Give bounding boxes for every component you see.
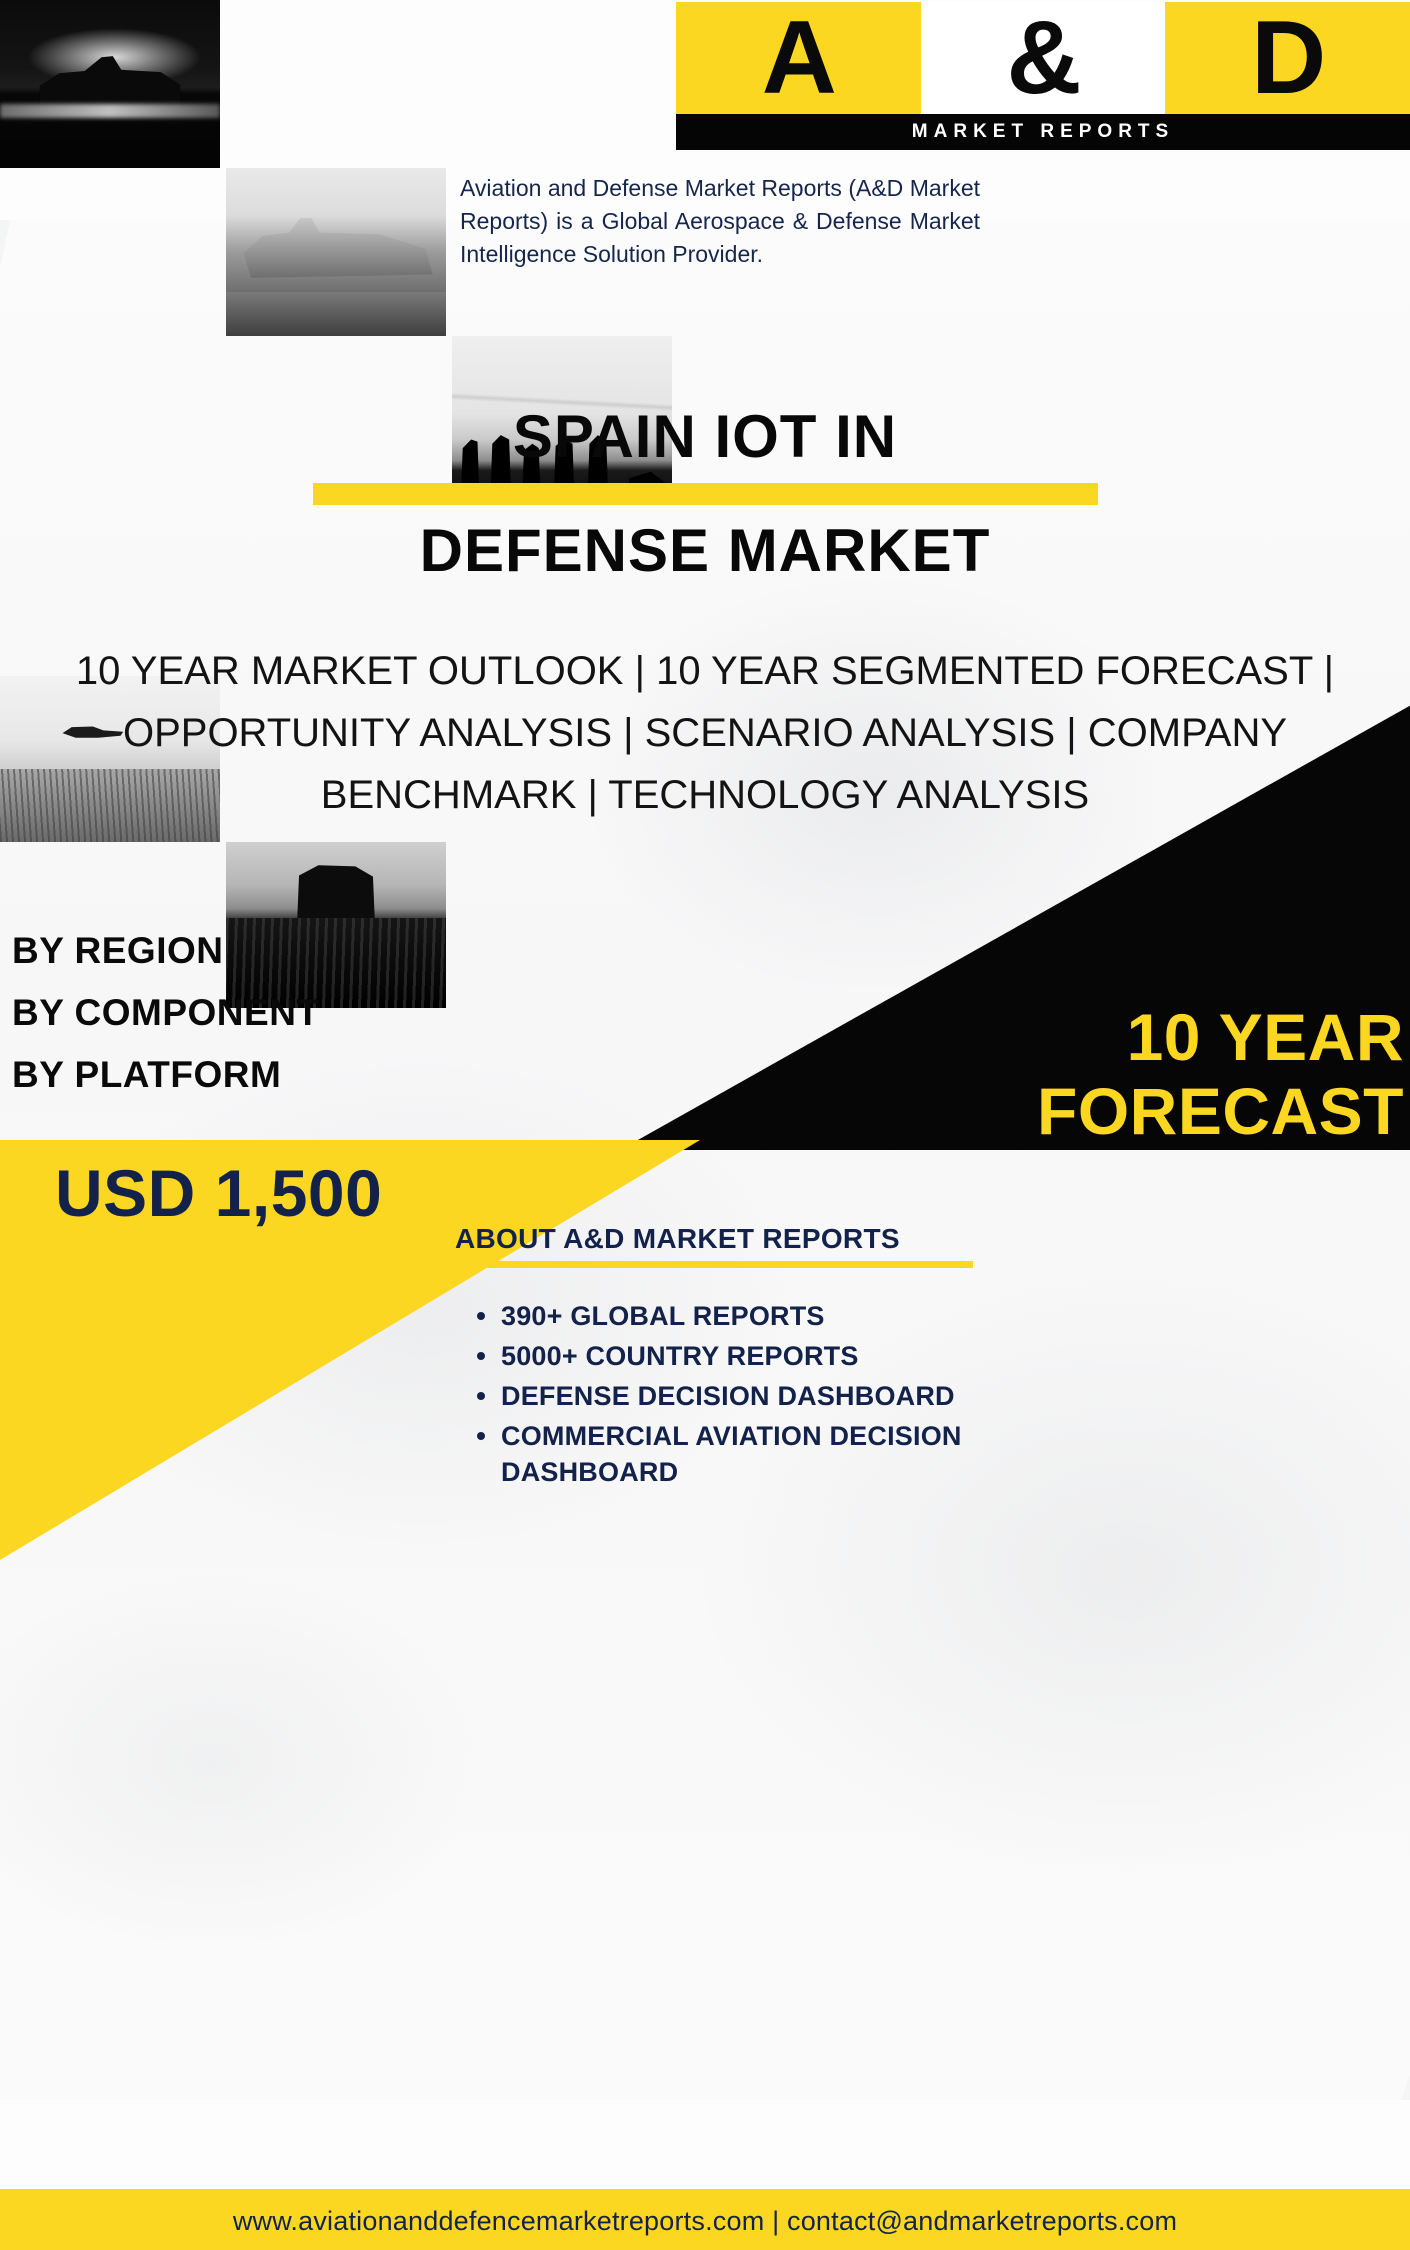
footer-contact-text[interactable]: www.aviationanddefencemarketreports.com … xyxy=(233,2206,1177,2237)
segmentation-list: BY REGION BY COMPONENT BY PLATFORM xyxy=(12,920,320,1106)
photo-strip xyxy=(0,0,676,338)
brand-logo: A & D MARKET REPORTS xyxy=(676,2,1410,150)
report-title-line-1: SPAIN IOT IN xyxy=(0,405,1410,469)
about-list-item: 5000+ COUNTRY REPORTS xyxy=(501,1338,985,1374)
forecast-badge-line-2: FORECAST xyxy=(784,1074,1404,1148)
about-list-item: COMMERCIAL AVIATION DECISION DASHBOARD xyxy=(501,1418,985,1490)
title-yellow-rule xyxy=(313,483,1098,505)
company-intro-paragraph: Aviation and Defense Market Reports (A&D… xyxy=(460,172,980,271)
logo-subtitle-bar: MARKET REPORTS xyxy=(676,114,1410,150)
about-yellow-rule xyxy=(461,1261,973,1268)
segmentation-item-component: BY COMPONENT xyxy=(12,982,320,1044)
logo-cell-a: A xyxy=(676,2,921,114)
logo-letter-d: D xyxy=(1251,6,1324,110)
segmentation-item-region: BY REGION xyxy=(12,920,320,982)
report-title-block: SPAIN IOT IN DEFENSE MARKET xyxy=(0,405,1410,582)
report-title-line-2: DEFENSE MARKET xyxy=(0,519,1410,583)
logo-cell-ampersand: & xyxy=(921,2,1166,114)
logo-letter-row: A & D xyxy=(676,2,1410,114)
logo-letter-ampersand: & xyxy=(1006,6,1079,110)
about-heading: ABOUT A&D MARKET REPORTS xyxy=(455,1222,985,1256)
photo-aircraft-carrier xyxy=(226,168,446,336)
logo-subtitle-text: MARKET REPORTS xyxy=(912,121,1174,143)
about-list-item: DEFENSE DECISION DASHBOARD xyxy=(501,1378,985,1414)
photo-fighter-jet-on-runway xyxy=(0,0,220,168)
about-bullet-list: 390+ GLOBAL REPORTS 5000+ COUNTRY REPORT… xyxy=(455,1298,985,1490)
segmentation-item-platform: BY PLATFORM xyxy=(12,1044,320,1106)
poster-root: A & D MARKET REPORTS Aviation and Defens… xyxy=(0,0,1410,2250)
logo-letter-a: A xyxy=(762,6,835,110)
about-section: ABOUT A&D MARKET REPORTS 390+ GLOBAL REP… xyxy=(455,1222,985,1494)
price-label: USD 1,500 xyxy=(55,1160,382,1226)
logo-cell-d: D xyxy=(1165,2,1410,114)
footer-bar: www.aviationanddefencemarketreports.com … xyxy=(0,2192,1410,2250)
report-scope-subtitle: 10 YEAR MARKET OUTLOOK | 10 YEAR SEGMENT… xyxy=(30,640,1380,826)
forecast-badge: 10 YEAR FORECAST xyxy=(784,1000,1404,1148)
about-list-item: 390+ GLOBAL REPORTS xyxy=(501,1298,985,1334)
forecast-badge-line-1: 10 YEAR xyxy=(784,1000,1404,1074)
